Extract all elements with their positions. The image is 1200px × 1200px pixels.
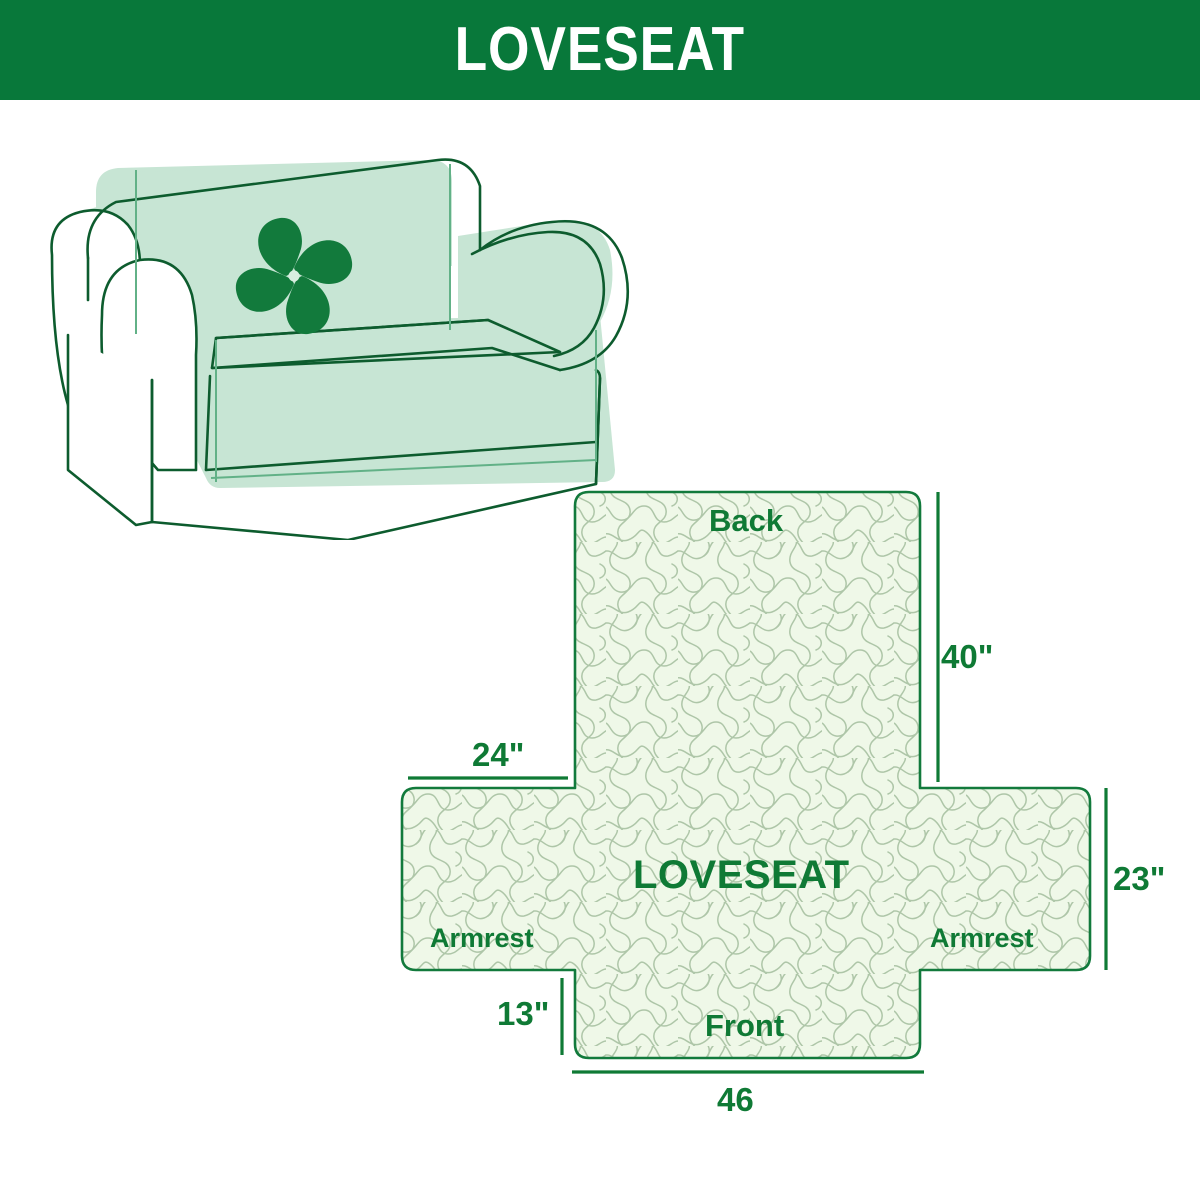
label-armrest-right: Armrest	[930, 925, 1034, 952]
label-center-loveseat: LOVESEAT	[633, 855, 850, 895]
label-front: Front	[705, 1010, 784, 1041]
dimension-label-back-offset: 24"	[472, 738, 524, 771]
label-back: Back	[709, 505, 783, 536]
dimension-label-back-height: 40"	[941, 640, 993, 673]
dimension-label-front-height: 13"	[497, 997, 549, 1030]
dimension-label-armrest-height: 23"	[1113, 862, 1165, 895]
page-title: LOVESEAT	[455, 19, 745, 81]
header-banner: LOVESEAT	[0, 0, 1200, 100]
cover-cross-shape	[402, 492, 1090, 1058]
page-root: LOVESEAT	[0, 0, 1200, 1200]
dimension-label-front-width: 46	[717, 1083, 754, 1116]
label-armrest-left: Armrest	[430, 925, 534, 952]
